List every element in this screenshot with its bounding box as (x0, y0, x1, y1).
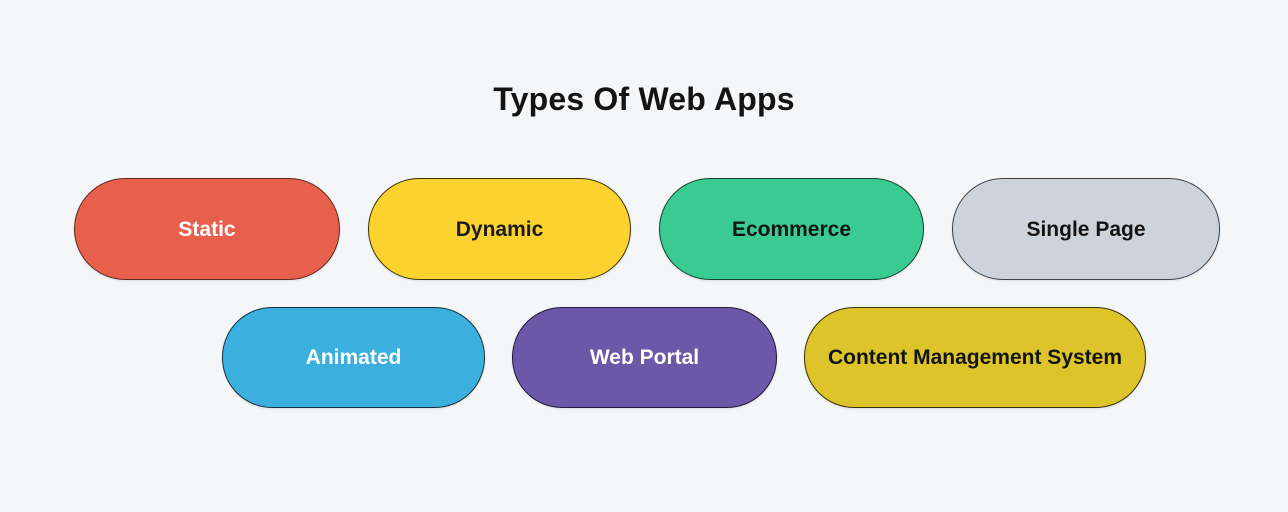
pill-dynamic[interactable]: Dynamic (368, 178, 631, 280)
pill-web-portal[interactable]: Web Portal (512, 307, 777, 408)
pill-label: Single Page (1026, 216, 1145, 243)
pill-row-one: Static Dynamic Ecommerce Single Page (74, 178, 1220, 280)
pill-content-management-system[interactable]: Content Management System (804, 307, 1146, 408)
pill-label: Ecommerce (732, 216, 851, 243)
pill-label: Static (178, 216, 235, 243)
pill-ecommerce[interactable]: Ecommerce (659, 178, 924, 280)
pill-label: Dynamic (456, 216, 544, 243)
pill-label: Web Portal (590, 344, 699, 371)
pill-row-two: Animated Web Portal Content Management S… (222, 307, 1146, 408)
pill-animated[interactable]: Animated (222, 307, 485, 408)
pill-static[interactable]: Static (74, 178, 340, 280)
diagram-canvas: Types Of Web Apps Static Dynamic Ecommer… (0, 0, 1288, 512)
pill-label: Content Management System (828, 344, 1122, 371)
pill-single-page[interactable]: Single Page (952, 178, 1220, 280)
pill-label: Animated (306, 344, 402, 371)
page-title: Types Of Web Apps (0, 78, 1288, 120)
